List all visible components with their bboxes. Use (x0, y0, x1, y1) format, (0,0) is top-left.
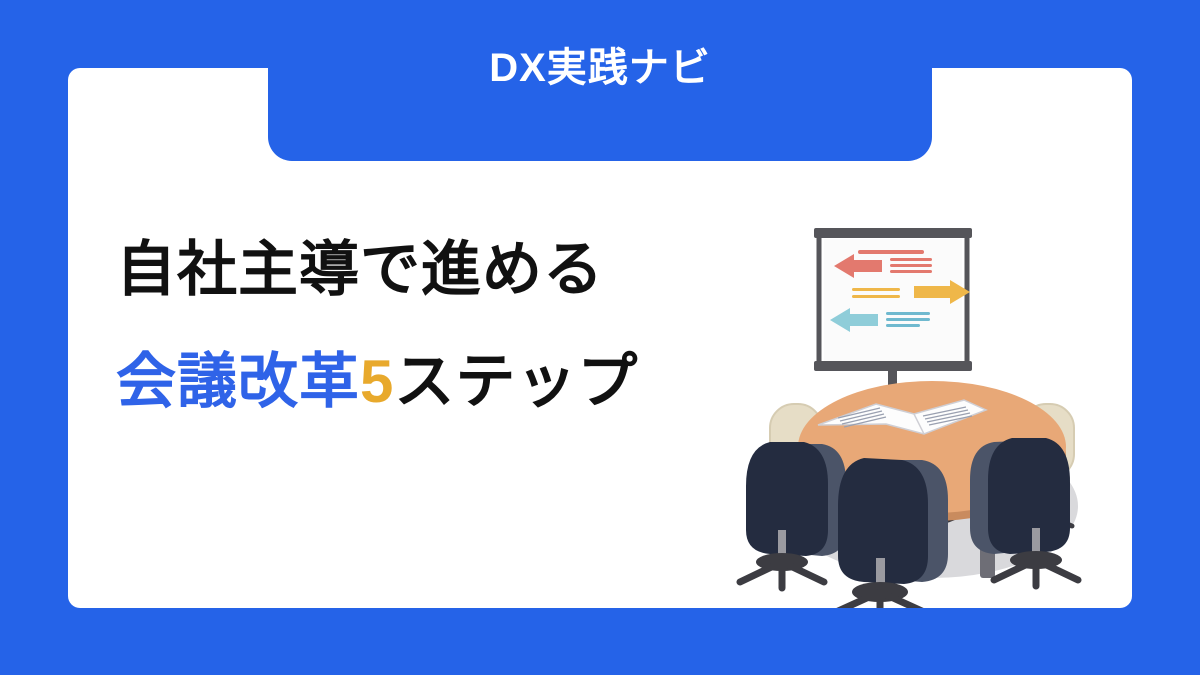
header-tab: DX実践ナビ (268, 0, 932, 161)
flipchart-line-top (858, 250, 924, 254)
headline-line-2: 会議改革5ステップ (116, 352, 638, 412)
chair-dark-left (740, 442, 846, 588)
flipchart-line-red-2 (890, 264, 932, 267)
flipchart-line-yellow-1 (852, 288, 900, 291)
dark-chairs-group (740, 438, 1078, 608)
flipchart-line-blue-3 (886, 324, 920, 327)
flipchart-line-red-1 (890, 258, 932, 261)
chair-dark-center (836, 458, 948, 608)
brand-title: DX実践ナビ (268, 48, 932, 88)
meeting-room-illustration (718, 218, 1132, 608)
headline-step-count: 5 (360, 348, 394, 415)
flipchart-line-red-3 (890, 270, 932, 273)
headline-line-1: 自社主導で進める (116, 240, 638, 300)
flipchart-line-yellow-2 (852, 295, 900, 298)
headline-block: 自社主導で進める 会議改革5ステップ (116, 240, 638, 412)
flipchart-top-bar (814, 228, 972, 238)
headline-highlight-blue: 会議改革 (116, 348, 360, 415)
slide-canvas: DX実践ナビ 自社主導で進める 会議改革5ステップ (0, 0, 1200, 675)
flipchart-line-blue-1 (886, 312, 930, 315)
headline-suffix: ステップ (394, 348, 638, 415)
flipchart-bottom-bar (814, 361, 972, 371)
flipchart-paper (824, 239, 962, 361)
flipchart-line-blue-2 (886, 318, 930, 321)
